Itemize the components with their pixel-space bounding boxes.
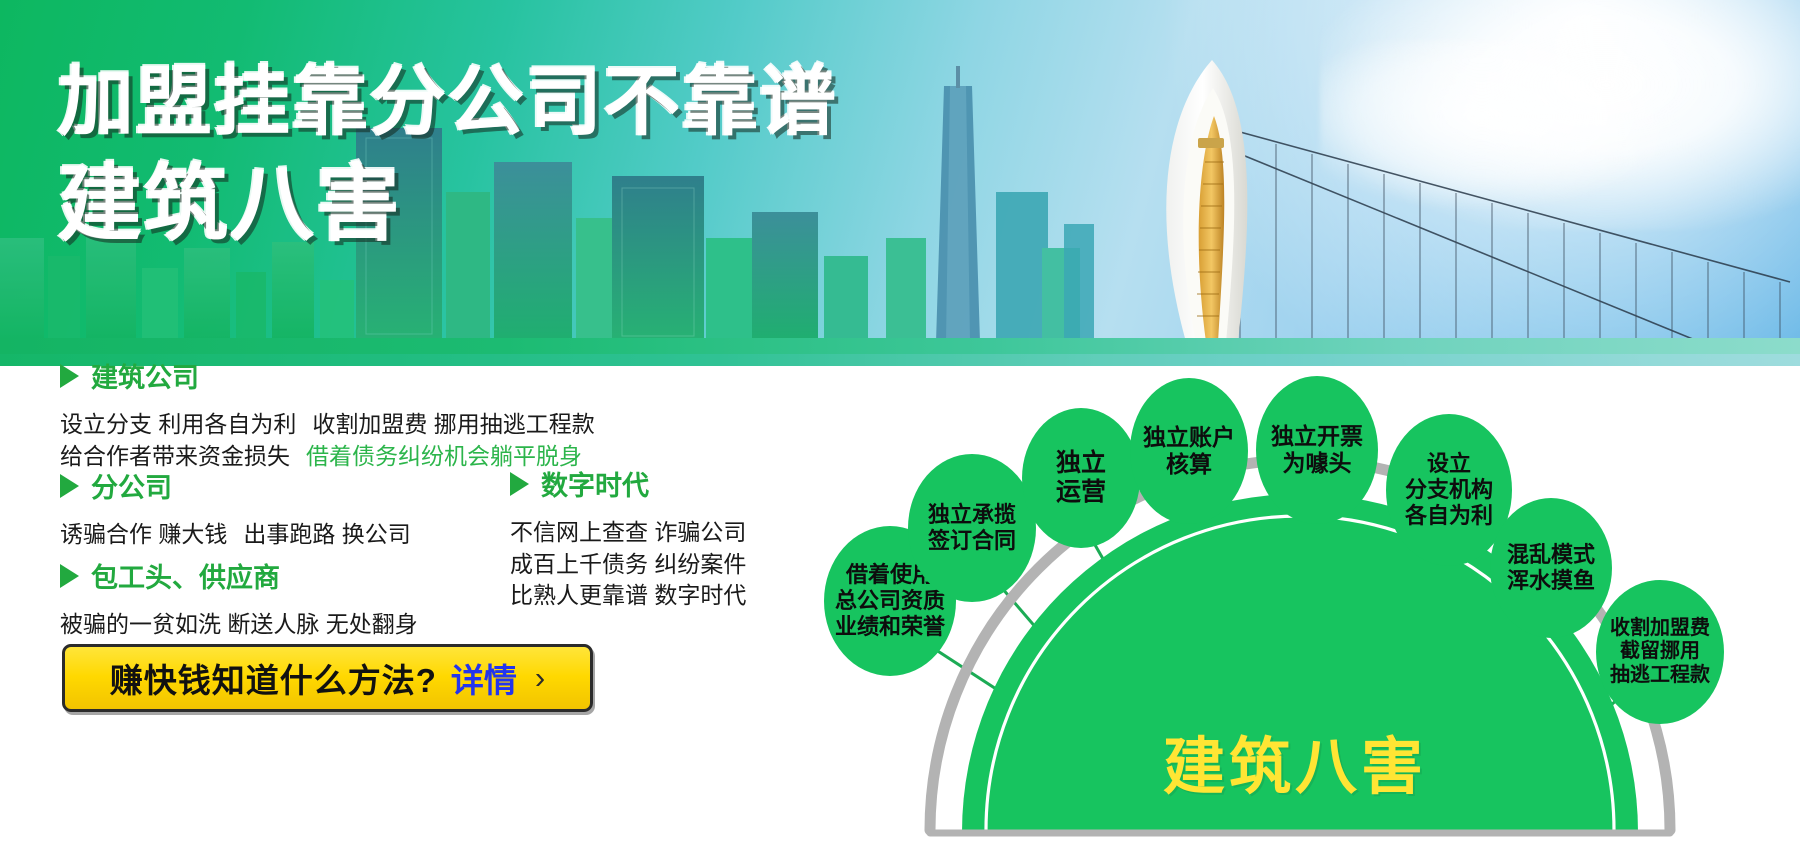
dome-center-label: 建筑八害 (790, 716, 1800, 806)
bubble-4[interactable]: 独立账户 核算 (1130, 378, 1248, 524)
bubble-2[interactable]: 独立承揽 签订合同 (908, 454, 1036, 602)
bubble-6-line3: 各自为利 (1401, 503, 1497, 529)
hero-title-line1: 加盟挂靠分公司不靠谱 (58, 60, 838, 145)
section-company-title: 建筑公司 (91, 356, 199, 395)
section-contractor: 包工头、供应商 被骗的一贫如洗 断送人脉 无处翻身 (60, 556, 418, 641)
radial-diagram: 借着使用 总公司资质 业绩和荣誉 独立承揽 签订合同 独立 运营 独立账户 核算 (790, 330, 1800, 844)
hero-title: 加盟挂靠分公司不靠谱 建筑八害 (58, 60, 838, 251)
section-branch-header: 分公司 (60, 466, 411, 505)
left-content-panel: 建筑公司 设立分支 利用各自为利收割加盟费 挪用抽逃工程款 给合作者带来资金损失… (0, 366, 800, 844)
section-branch: 分公司 诱骗合作 赚大钱出事跑路 换公司 (60, 466, 411, 551)
section-digital: 数字时代 不信网上查查 诈骗公司 成百上千债务 纠纷案件 比熟人更靠谱 数字时代 (510, 464, 746, 612)
section-contractor-line1: 被骗的一贫如洗 断送人脉 无处翻身 (60, 609, 418, 641)
chevron-right-icon: › (535, 660, 545, 696)
bubble-4-line2: 核算 (1139, 451, 1239, 478)
poster-root: 加盟挂靠分公司不靠谱 建筑八害 建筑公司 设立分支 利用各自为利收割加盟费 挪用… (0, 0, 1800, 844)
hero-banner: 加盟挂靠分公司不靠谱 建筑八害 (0, 0, 1800, 366)
triangle-bullet-icon (60, 364, 79, 388)
bubble-2-line2: 签订合同 (924, 528, 1020, 554)
section-digital-line2: 成百上千债务 纠纷案件 (510, 549, 746, 581)
bubble-8[interactable]: 收割加盟费 截留挪用 抽逃工程款 (1596, 580, 1724, 724)
section-contractor-title: 包工头、供应商 (91, 556, 280, 595)
bubble-3[interactable]: 独立 运营 (1022, 408, 1140, 548)
cta-button[interactable]: 赚快钱知道什么方法? 详情 › (62, 644, 593, 712)
bubble-7[interactable]: 混乱模式 浑水摸鱼 (1490, 498, 1612, 638)
triangle-bullet-icon (60, 564, 79, 588)
bubble-2-line1: 独立承揽 (924, 502, 1020, 528)
bubble-3-line2: 运营 (1052, 478, 1110, 508)
bubble-6-line1: 设立 (1401, 451, 1497, 477)
section-digital-line3: 比熟人更靠谱 数字时代 (510, 580, 746, 612)
bubble-5-line2: 为噱头 (1267, 450, 1367, 477)
section-company: 建筑公司 设立分支 利用各自为利收割加盟费 挪用抽逃工程款 给合作者带来资金损失… (60, 356, 595, 472)
section-digital-line1: 不信网上查查 诈骗公司 (510, 517, 746, 549)
hero-title-line2: 建筑八害 (58, 157, 838, 251)
bubble-8-line1: 收割加盟费 (1606, 617, 1714, 641)
bubble-7-line2: 浑水摸鱼 (1503, 568, 1599, 594)
section-digital-title: 数字时代 (541, 464, 649, 503)
section-branch-title: 分公司 (91, 466, 172, 505)
bubble-7-line1: 混乱模式 (1503, 542, 1599, 568)
cta-main-label: 赚快钱知道什么方法? (110, 654, 437, 702)
triangle-bullet-icon (510, 472, 529, 496)
bubble-5-line1: 独立开票 (1267, 423, 1367, 450)
section-digital-body: 不信网上查查 诈骗公司 成百上千债务 纠纷案件 比熟人更靠谱 数字时代 (510, 517, 746, 612)
bubble-8-line3: 抽逃工程款 (1606, 664, 1714, 688)
section-branch-body: 诱骗合作 赚大钱出事跑路 换公司 (60, 519, 411, 551)
bubble-3-line1: 独立 (1052, 449, 1110, 479)
bubble-6-line2: 分支机构 (1401, 477, 1497, 503)
section-company-line1: 设立分支 利用各自为利收割加盟费 挪用抽逃工程款 (60, 409, 595, 441)
bubble-1-line3: 业绩和荣誉 (831, 614, 949, 640)
section-company-header: 建筑公司 (60, 356, 595, 395)
bubble-4-line1: 独立账户 (1139, 424, 1239, 451)
bubble-8-line2: 截留挪用 (1606, 640, 1714, 664)
section-company-body: 设立分支 利用各自为利收割加盟费 挪用抽逃工程款 给合作者带来资金损失借着债务纠… (60, 409, 595, 472)
section-digital-header: 数字时代 (510, 464, 746, 503)
section-contractor-header: 包工头、供应商 (60, 556, 418, 595)
cta-detail-link[interactable]: 详情 (451, 654, 517, 702)
section-contractor-body: 被骗的一贫如洗 断送人脉 无处翻身 (60, 609, 418, 641)
section-branch-line1: 诱骗合作 赚大钱出事跑路 换公司 (60, 519, 411, 551)
bubble-1-line2: 总公司资质 (831, 588, 949, 614)
triangle-bullet-icon (60, 474, 79, 498)
bubble-5[interactable]: 独立开票 为噱头 (1256, 376, 1378, 524)
